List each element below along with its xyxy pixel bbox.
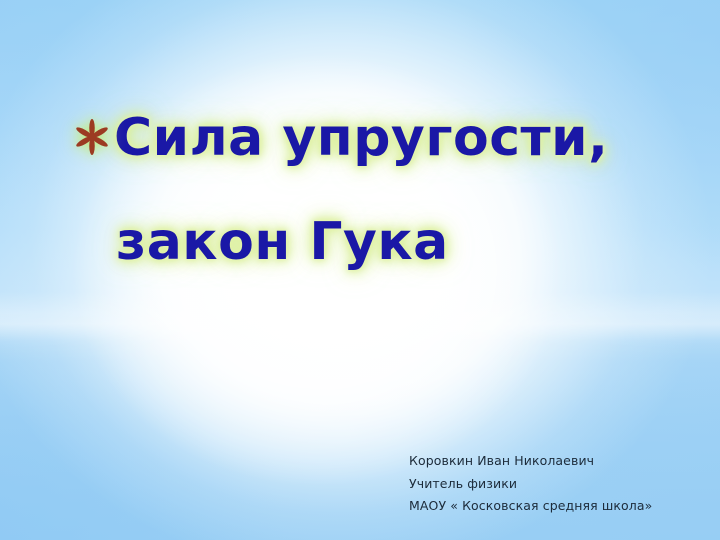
title-line-1-row: Сила упругости, — [70, 112, 670, 164]
page-title: Сила упругости, закон Гука — [70, 112, 670, 268]
author-school: МАОУ « Косковская средняя школа» — [409, 495, 709, 518]
title-line-2: закон Гука — [70, 216, 670, 268]
asterisk-icon — [73, 118, 111, 156]
title-line-1: Сила упругости, — [70, 112, 608, 164]
title-line-2-row: закон Гука — [70, 216, 670, 268]
title-slide: Сила упругости, закон Гука Коровкин Иван… — [0, 0, 720, 540]
author-role: Учитель физики — [409, 473, 709, 496]
author-name: Коровкин Иван Николаевич — [409, 450, 709, 473]
author-block: Коровкин Иван Николаевич Учитель физики … — [409, 450, 709, 518]
